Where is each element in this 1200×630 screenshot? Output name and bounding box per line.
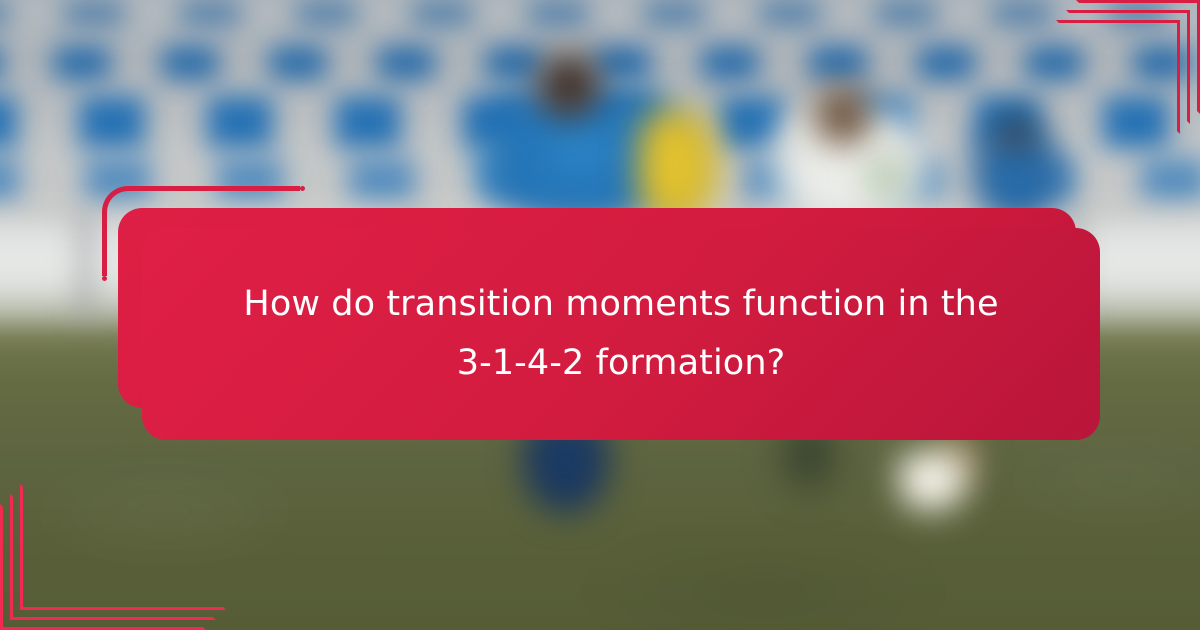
player-far-blue-head — [990, 108, 1042, 158]
player-white-head — [812, 82, 874, 148]
player-white-trim — [856, 148, 914, 206]
player-blue-head — [534, 50, 604, 122]
question-card: How do transition moments function in th… — [142, 228, 1100, 440]
stadium-seat-row-0 — [0, 0, 1200, 26]
screenshot-stage: How do transition moments function in th… — [0, 0, 1200, 630]
question-title: How do transition moments function in th… — [241, 275, 1001, 393]
